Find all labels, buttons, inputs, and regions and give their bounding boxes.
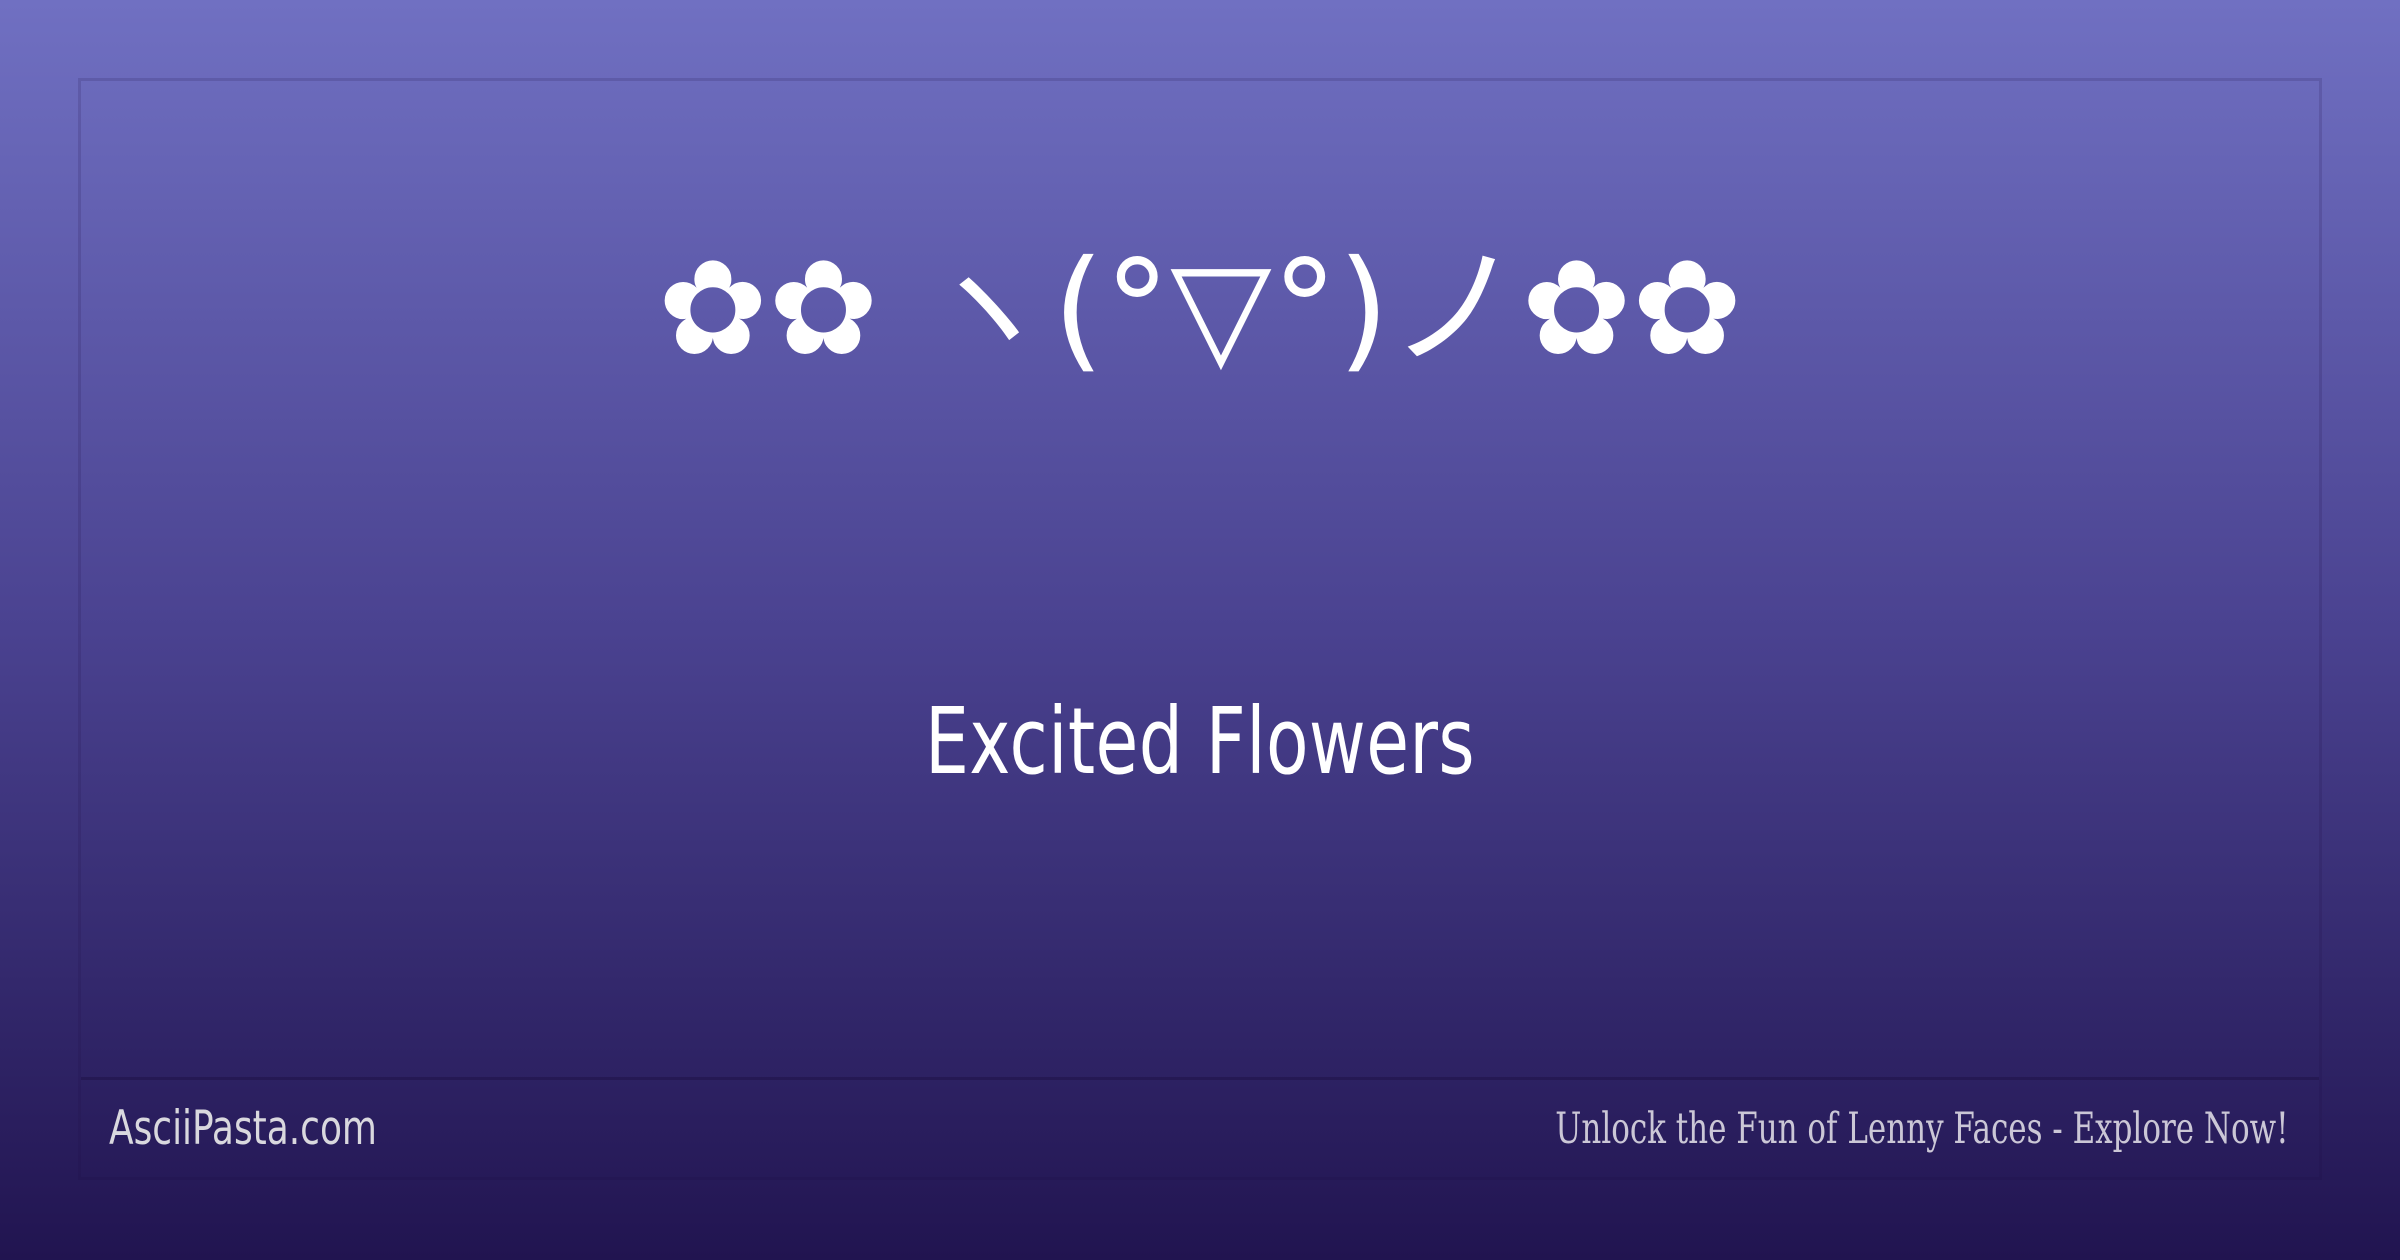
kaomoji-display[interactable]: ✿✿ ヽ(°▽°)ノ✿✿ bbox=[81, 233, 2319, 386]
kaomoji-stage: ✿✿ ヽ(°▽°)ノ✿✿ Excited Flowers bbox=[81, 81, 2319, 1077]
content-card: ✿✿ ヽ(°▽°)ノ✿✿ Excited Flowers AsciiPasta.… bbox=[78, 78, 2322, 1180]
page-canvas: ✿✿ ヽ(°▽°)ノ✿✿ Excited Flowers AsciiPasta.… bbox=[0, 0, 2400, 1260]
footer-bar: AsciiPasta.com Unlock the Fun of Lenny F… bbox=[81, 1077, 2319, 1177]
page-title: Excited Flowers bbox=[260, 691, 2140, 792]
site-brand[interactable]: AsciiPasta.com bbox=[109, 1101, 377, 1156]
footer-tagline[interactable]: Unlock the Fun of Lenny Faces - Explore … bbox=[1556, 1104, 2289, 1154]
